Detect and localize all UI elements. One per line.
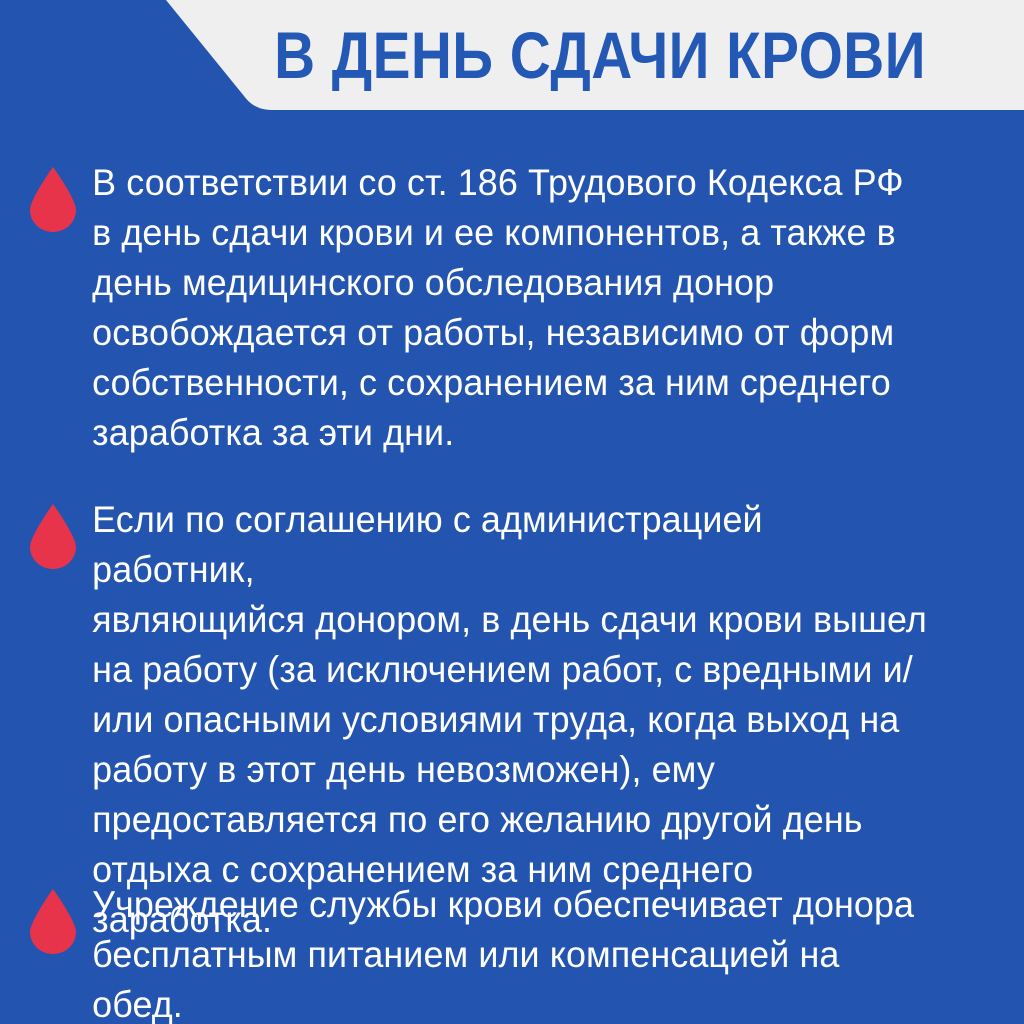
list-item: Если по соглашению с администрацией рабо… xyxy=(0,495,1024,945)
bullet-text: Если по соглашению с администрацией рабо… xyxy=(0,495,993,945)
blood-donation-infographic: В ДЕНЬ СДАЧИ КРОВИ В соответствии со ст.… xyxy=(0,0,1024,1024)
bullet-list: В соответствии со ст. 186 Трудового Коде… xyxy=(0,110,1024,1024)
page-title: В ДЕНЬ СДАЧИ КРОВИ xyxy=(299,0,901,110)
list-item: В соответствии со ст. 186 Трудового Коде… xyxy=(0,158,1024,458)
bullet-text: В соответствии со ст. 186 Трудового Коде… xyxy=(0,158,993,458)
bullet-text: Учреждение службы крови обеспечивает дон… xyxy=(0,880,993,1024)
list-item: Учреждение службы крови обеспечивает дон… xyxy=(0,880,1024,1024)
header-banner: В ДЕНЬ СДАЧИ КРОВИ xyxy=(0,0,1024,110)
